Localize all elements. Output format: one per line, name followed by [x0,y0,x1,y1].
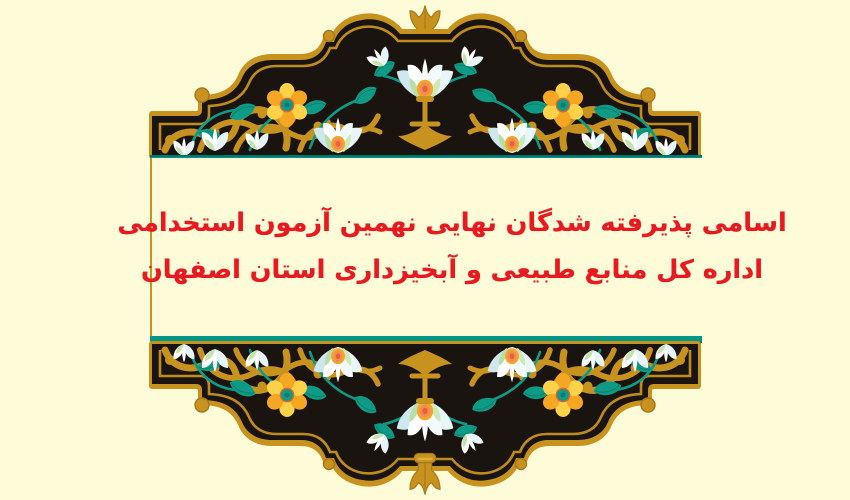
banner-title-line-2: اداره کل منابع طبیعی و آبخیزداری استان ا… [141,256,763,285]
bottom-finial-icon [410,454,440,495]
title-panel: اسامی پذیرفته شدگان نهایی نهمین آزمون اس… [152,158,752,336]
banner-title-line-1: اسامی پذیرفته شدگان نهایی نهمین آزمون اس… [117,209,786,238]
banner-canvas: اسامی پذیرفته شدگان نهایی نهمین آزمون اس… [0,0,850,500]
